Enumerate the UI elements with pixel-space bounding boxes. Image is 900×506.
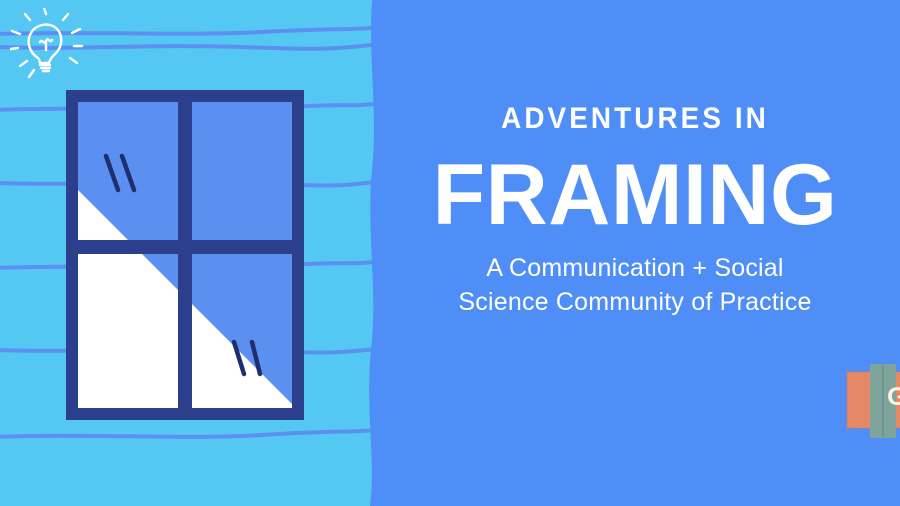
subtitle-line-2: Science Community of Practice [370,286,900,320]
subtitle-line-1: A Communication + Social [486,254,783,282]
text-panel: ADVENTURES IN FRAMING A Communication + … [370,0,900,506]
page-title: FRAMING [370,152,900,238]
window-mullion-vertical [178,102,192,408]
window-icon [66,90,304,420]
illustration-panel [0,0,380,506]
eyebrow-text: ADVENTURES IN [389,104,882,134]
lightbulb-icon [10,8,90,88]
slide-canvas: ADVENTURES IN FRAMING A Communication + … [0,0,900,506]
good-works-lab-logo: GOOD WORKS LAB [842,362,900,440]
subtitle-text: A Communication + Social Science Communi… [370,252,900,320]
window-mullion-horizontal [78,240,292,254]
logo-banner-shape [842,362,900,440]
